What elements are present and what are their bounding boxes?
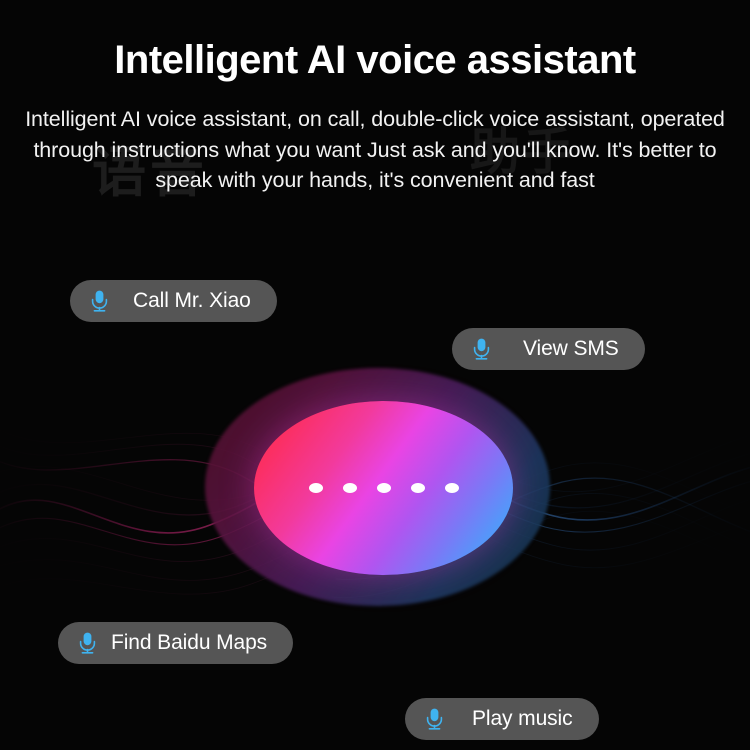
page-description: Intelligent AI voice assistant, on call,… bbox=[25, 82, 725, 196]
voice-command-play-music[interactable]: Play music bbox=[405, 698, 599, 740]
microphone-icon bbox=[90, 290, 109, 312]
orb-dot bbox=[309, 483, 323, 493]
orb-listening-dots bbox=[254, 401, 513, 575]
microphone-icon bbox=[472, 338, 491, 360]
microphone-icon bbox=[425, 708, 444, 730]
page-title: Intelligent AI voice assistant bbox=[0, 0, 750, 82]
voice-command-label: Find Baidu Maps bbox=[111, 631, 267, 655]
voice-command-find-baidu-maps[interactable]: Find Baidu Maps bbox=[58, 622, 293, 664]
assistant-orb[interactable] bbox=[205, 368, 550, 606]
header: Intelligent AI voice assistant Intellige… bbox=[0, 0, 750, 196]
orb-dot bbox=[445, 483, 459, 493]
promo-page: 语音 助手 Intelligent AI voice assistant Int… bbox=[0, 0, 750, 750]
voice-command-view-sms[interactable]: View SMS bbox=[452, 328, 645, 370]
voice-command-call-mr-xiao[interactable]: Call Mr. Xiao bbox=[70, 280, 277, 322]
orb-dot bbox=[377, 483, 391, 493]
microphone-icon bbox=[78, 632, 97, 654]
orb-dot bbox=[411, 483, 425, 493]
orb-dot bbox=[343, 483, 357, 493]
orb-core bbox=[254, 401, 513, 575]
voice-command-label: Play music bbox=[458, 707, 573, 731]
voice-command-label: Call Mr. Xiao bbox=[123, 289, 251, 313]
voice-command-label: View SMS bbox=[505, 337, 619, 361]
